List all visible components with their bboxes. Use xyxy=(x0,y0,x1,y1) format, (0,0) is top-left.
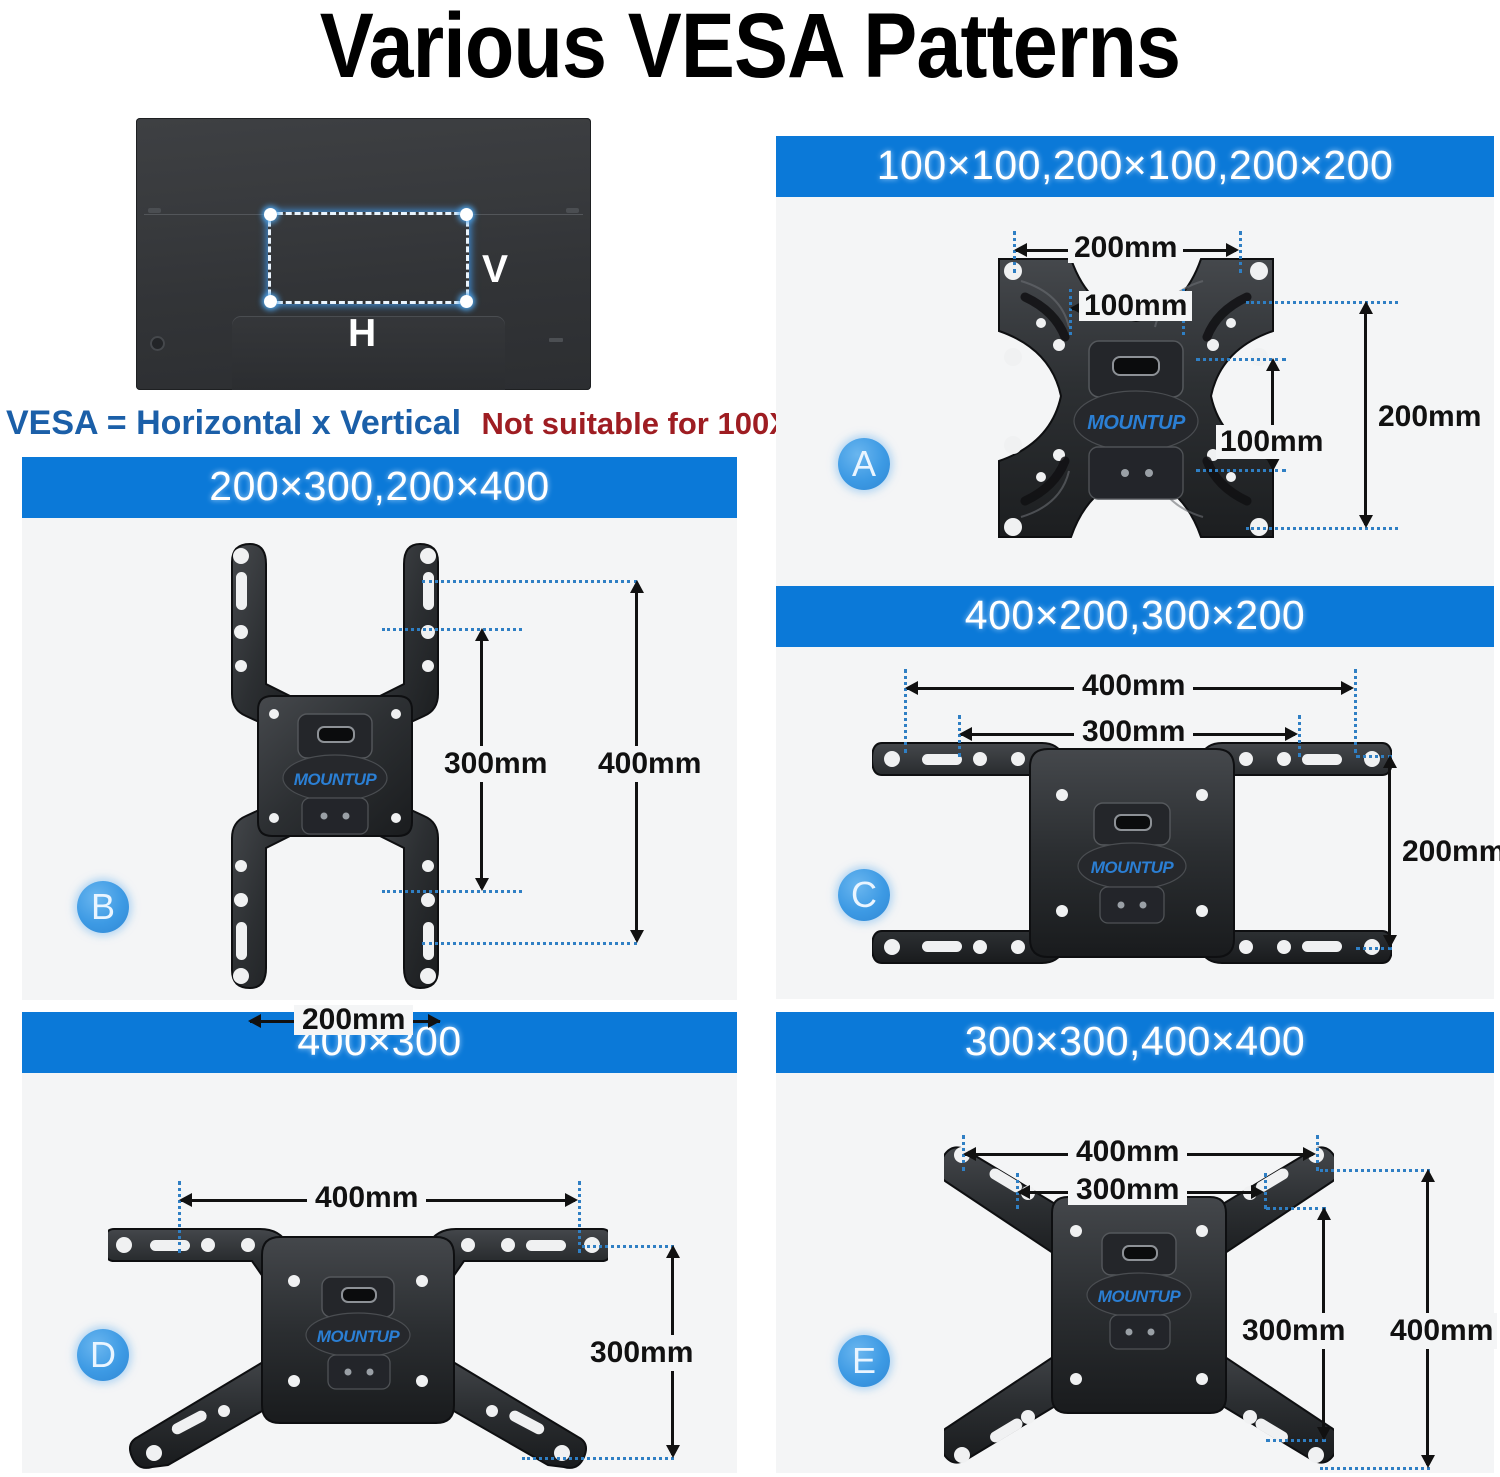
panel-a-badge: A xyxy=(838,438,890,490)
panel-a-v-outer-label: 200mm xyxy=(1378,402,1481,432)
guide-line xyxy=(178,1181,181,1253)
brand-logo-text: MOUNTUP xyxy=(294,770,378,789)
panel-c: 400×200,300×200 C xyxy=(776,586,1494,999)
bracket-b-image: MOUNTUP xyxy=(210,536,460,996)
tv-port-icon xyxy=(150,336,165,351)
panel-e-h-outer-label: 400mm xyxy=(1068,1137,1187,1167)
arrow-head-left xyxy=(963,1147,976,1161)
guide-line xyxy=(582,1245,674,1248)
dimension-line xyxy=(1388,759,1391,945)
panel-b-badge: B xyxy=(77,881,129,933)
panel-d-v-outer-label: 300mm xyxy=(586,1335,697,1371)
arrow-head-up xyxy=(1383,755,1397,768)
panel-c-h-inner-label: 300mm xyxy=(1074,717,1193,747)
brand-logo-text: MOUNTUP xyxy=(1087,412,1186,434)
arrow-head-down xyxy=(475,878,489,891)
arrow-head-right xyxy=(1285,727,1298,741)
panel-a-h-outer-label: 200mm xyxy=(1068,233,1183,263)
panel-e-body: E xyxy=(776,1073,1494,1473)
arrow-head-right xyxy=(1226,243,1239,257)
guide-line xyxy=(1298,715,1301,757)
panel-b: 200×300,200×400 B xyxy=(22,457,737,1000)
tv-rear-view-figure: V H xyxy=(136,118,591,390)
arrow-head-down xyxy=(1359,515,1373,528)
panel-e-h-inner-label: 300mm xyxy=(1068,1175,1187,1205)
arrow-head-left xyxy=(179,1193,192,1207)
vesa-formula-text: VESA = Horizontal x Vertical xyxy=(6,404,461,442)
arrow-head-left xyxy=(959,727,972,741)
guide-line xyxy=(422,942,637,945)
panel-b-body: B xyxy=(22,518,737,1000)
panel-c-body: C xyxy=(776,647,1494,999)
panel-c-header: 400×200,300×200 xyxy=(776,586,1494,647)
guide-line xyxy=(1239,231,1242,273)
panel-b-header: 200×300,200×400 xyxy=(22,457,737,518)
panel-d: 400×300 D xyxy=(22,1012,737,1473)
arrow-head-up xyxy=(1266,358,1280,371)
brand-logo-text: MOUNTUP xyxy=(1098,1287,1182,1306)
panel-e-v-outer-label: 400mm xyxy=(1386,1313,1497,1349)
vesa-hole-dot xyxy=(460,208,473,221)
arrow-head-right xyxy=(428,1014,441,1028)
panel-a-body: A MOUNTUP xyxy=(776,197,1494,619)
panel-a-v-inner-label: 100mm xyxy=(1216,425,1327,459)
guide-line xyxy=(1354,669,1357,753)
guide-line xyxy=(382,890,522,893)
bracket-c-image: MOUNTUP xyxy=(872,733,1392,973)
guide-line xyxy=(382,628,522,631)
caption-row: VESA = Horizontal x Vertical Not suitabl… xyxy=(6,404,786,442)
panel-b-v-outer-label: 400mm xyxy=(594,746,705,782)
panel-e-header: 300×300,400×400 xyxy=(776,1012,1494,1073)
arrow-head-down xyxy=(1266,458,1280,471)
vertical-axis-label: V xyxy=(482,250,508,289)
arrow-head-up xyxy=(1359,301,1373,314)
guide-line xyxy=(422,580,637,583)
panel-d-body: D xyxy=(22,1073,737,1473)
arrow-head-up xyxy=(1317,1207,1331,1220)
guide-line xyxy=(578,1181,581,1253)
tv-slot-icon xyxy=(549,338,563,342)
arrow-head-down xyxy=(1317,1427,1331,1440)
arrow-head-right xyxy=(1341,681,1354,695)
guide-line xyxy=(1246,301,1398,304)
panel-a: 100×100,200×100,200×200 A MOUNTUP xyxy=(776,136,1494,619)
brand-logo-text: MOUNTUP xyxy=(317,1327,401,1346)
panel-d-h-outer-label: 400mm xyxy=(307,1183,426,1213)
vesa-hole-pattern-outline xyxy=(268,212,469,304)
arrow-head-left xyxy=(1017,1185,1030,1199)
arrow-head-up xyxy=(1421,1169,1435,1182)
arrow-head-up xyxy=(475,628,489,641)
bracket-d-image: MOUNTUP xyxy=(108,1195,608,1475)
panel-b-h-bottom-label: 200mm xyxy=(294,1005,413,1035)
arrow-head-left xyxy=(248,1014,261,1028)
arrow-head-down xyxy=(630,930,644,943)
guide-line xyxy=(1316,1135,1319,1171)
tv-notch-left xyxy=(148,208,161,213)
guide-line xyxy=(1264,1173,1267,1209)
panel-c-h-outer-label: 400mm xyxy=(1074,671,1193,701)
panel-a-h-inner-label: 100mm xyxy=(1079,291,1192,321)
guide-line xyxy=(522,1457,674,1460)
vesa-hole-dot xyxy=(460,295,473,308)
panel-b-v-inner-label: 300mm xyxy=(440,746,551,782)
dimension-line xyxy=(1364,305,1367,525)
arrow-head-down xyxy=(1383,935,1397,948)
vesa-hole-dot xyxy=(264,295,277,308)
arrow-head-left xyxy=(905,681,918,695)
guide-line xyxy=(1320,1467,1430,1470)
tv-notch-right xyxy=(566,208,579,213)
arrow-head-left xyxy=(1014,243,1027,257)
panel-e: 300×300,400×400 E xyxy=(776,1012,1494,1473)
page-title: Various VESA Patterns xyxy=(90,0,1410,96)
panel-e-badge: E xyxy=(838,1335,890,1387)
guide-line xyxy=(1246,527,1398,530)
vesa-hole-dot xyxy=(264,208,277,221)
panel-c-v-outer-label: 200mm xyxy=(1402,837,1500,867)
arrow-head-up xyxy=(630,580,644,593)
arrow-head-right xyxy=(1303,1147,1316,1161)
panel-a-header: 100×100,200×100,200×200 xyxy=(776,136,1494,197)
guide-line xyxy=(1320,1169,1430,1172)
panel-e-v-inner-label: 300mm xyxy=(1238,1313,1349,1349)
arrow-head-down xyxy=(1421,1455,1435,1468)
arrow-head-right xyxy=(1251,1185,1264,1199)
arrow-head-right xyxy=(565,1193,578,1207)
arrow-head-up xyxy=(666,1245,680,1258)
arrow-head-down xyxy=(666,1445,680,1458)
horizontal-axis-label: H xyxy=(348,314,376,353)
brand-logo-text: MOUNTUP xyxy=(1091,858,1175,877)
